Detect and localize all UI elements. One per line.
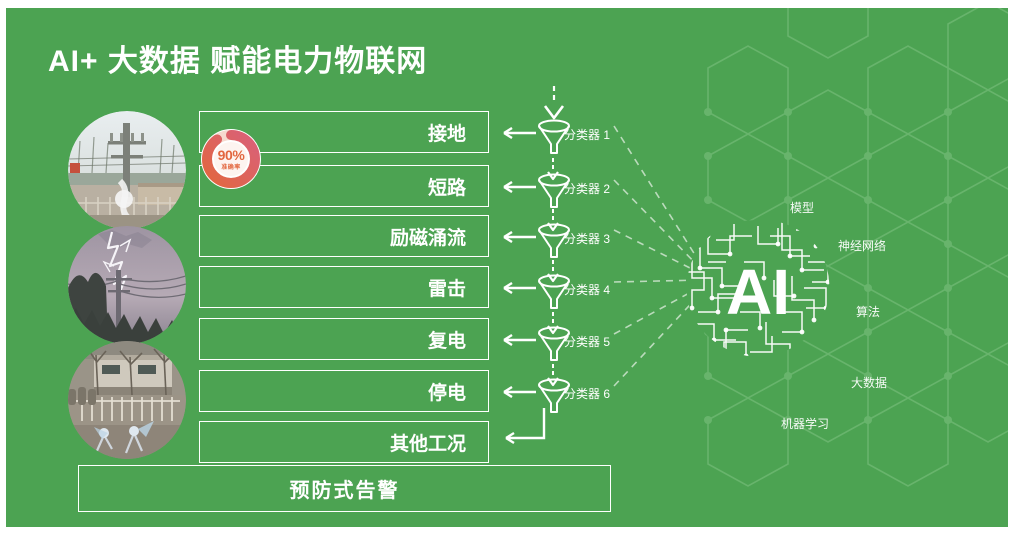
fault-row-label: 复电 [428, 326, 488, 353]
arrow-to-row-2-icon [494, 181, 536, 193]
preventive-alarm-bar[interactable]: 预防式告警 [78, 465, 611, 512]
fault-row-power-restore[interactable]: 复电 [199, 318, 489, 360]
preventive-alarm-label: 预防式告警 [290, 474, 400, 503]
arrow-to-row-6-icon [494, 386, 536, 398]
photo-substation-fence [68, 341, 186, 459]
fault-row-other-condition[interactable]: 其他工况 [199, 421, 489, 463]
fault-row-label: 停电 [428, 378, 488, 405]
classifier-label: 分类器 2 [564, 180, 610, 197]
arrow-to-row-5-icon [494, 334, 536, 346]
ai-keyword-machine-learning: 机器学习 [781, 415, 829, 432]
fault-row-lightning[interactable]: 雷击 [199, 266, 489, 308]
classifier-label: 分类器 6 [564, 385, 610, 402]
page-title: AI+ 大数据 赋能电力物联网 [48, 36, 427, 80]
ai-keyword-big-data: 大数据 [851, 374, 887, 391]
arrow-to-row-1-icon [494, 127, 536, 139]
photo-lightning-power-line [68, 226, 186, 344]
arrow-to-row-3-icon [494, 231, 536, 243]
ai-core-label: AI [726, 256, 790, 328]
ai-brain-graphic: AI [678, 216, 838, 366]
fault-row-inrush-current[interactable]: 励磁涌流 [199, 215, 489, 257]
fault-row-outage[interactable]: 停电 [199, 370, 489, 412]
input-arrow-icon [540, 86, 568, 122]
arrow-to-row-4-icon [494, 282, 536, 294]
classifier-label: 分类器 3 [564, 230, 610, 247]
slide-canvas: AI+ 大数据 赋能电力物联网 [6, 8, 1008, 527]
photo-utility-pole-snow [68, 111, 186, 229]
ai-keyword-algorithm: 算法 [856, 303, 880, 320]
ai-keyword-neural-network: 神经网络 [838, 237, 886, 254]
fault-row-label: 短路 [428, 173, 488, 200]
fault-row-label: 接地 [428, 119, 488, 146]
gauge-value: 90% [199, 147, 263, 163]
classifier-label: 分类器 4 [564, 281, 610, 298]
fault-row-label: 励磁涌流 [390, 223, 488, 250]
fault-row-label: 雷击 [428, 274, 488, 301]
gauge-label: 准确率 [199, 162, 263, 171]
classifier-label: 分类器 5 [564, 333, 610, 350]
ai-keyword-model: 模型 [790, 199, 814, 216]
fault-row-label: 其他工况 [390, 429, 488, 456]
classifier-label: 分类器 1 [564, 126, 610, 143]
accuracy-gauge: 90% 准确率 [199, 127, 263, 191]
